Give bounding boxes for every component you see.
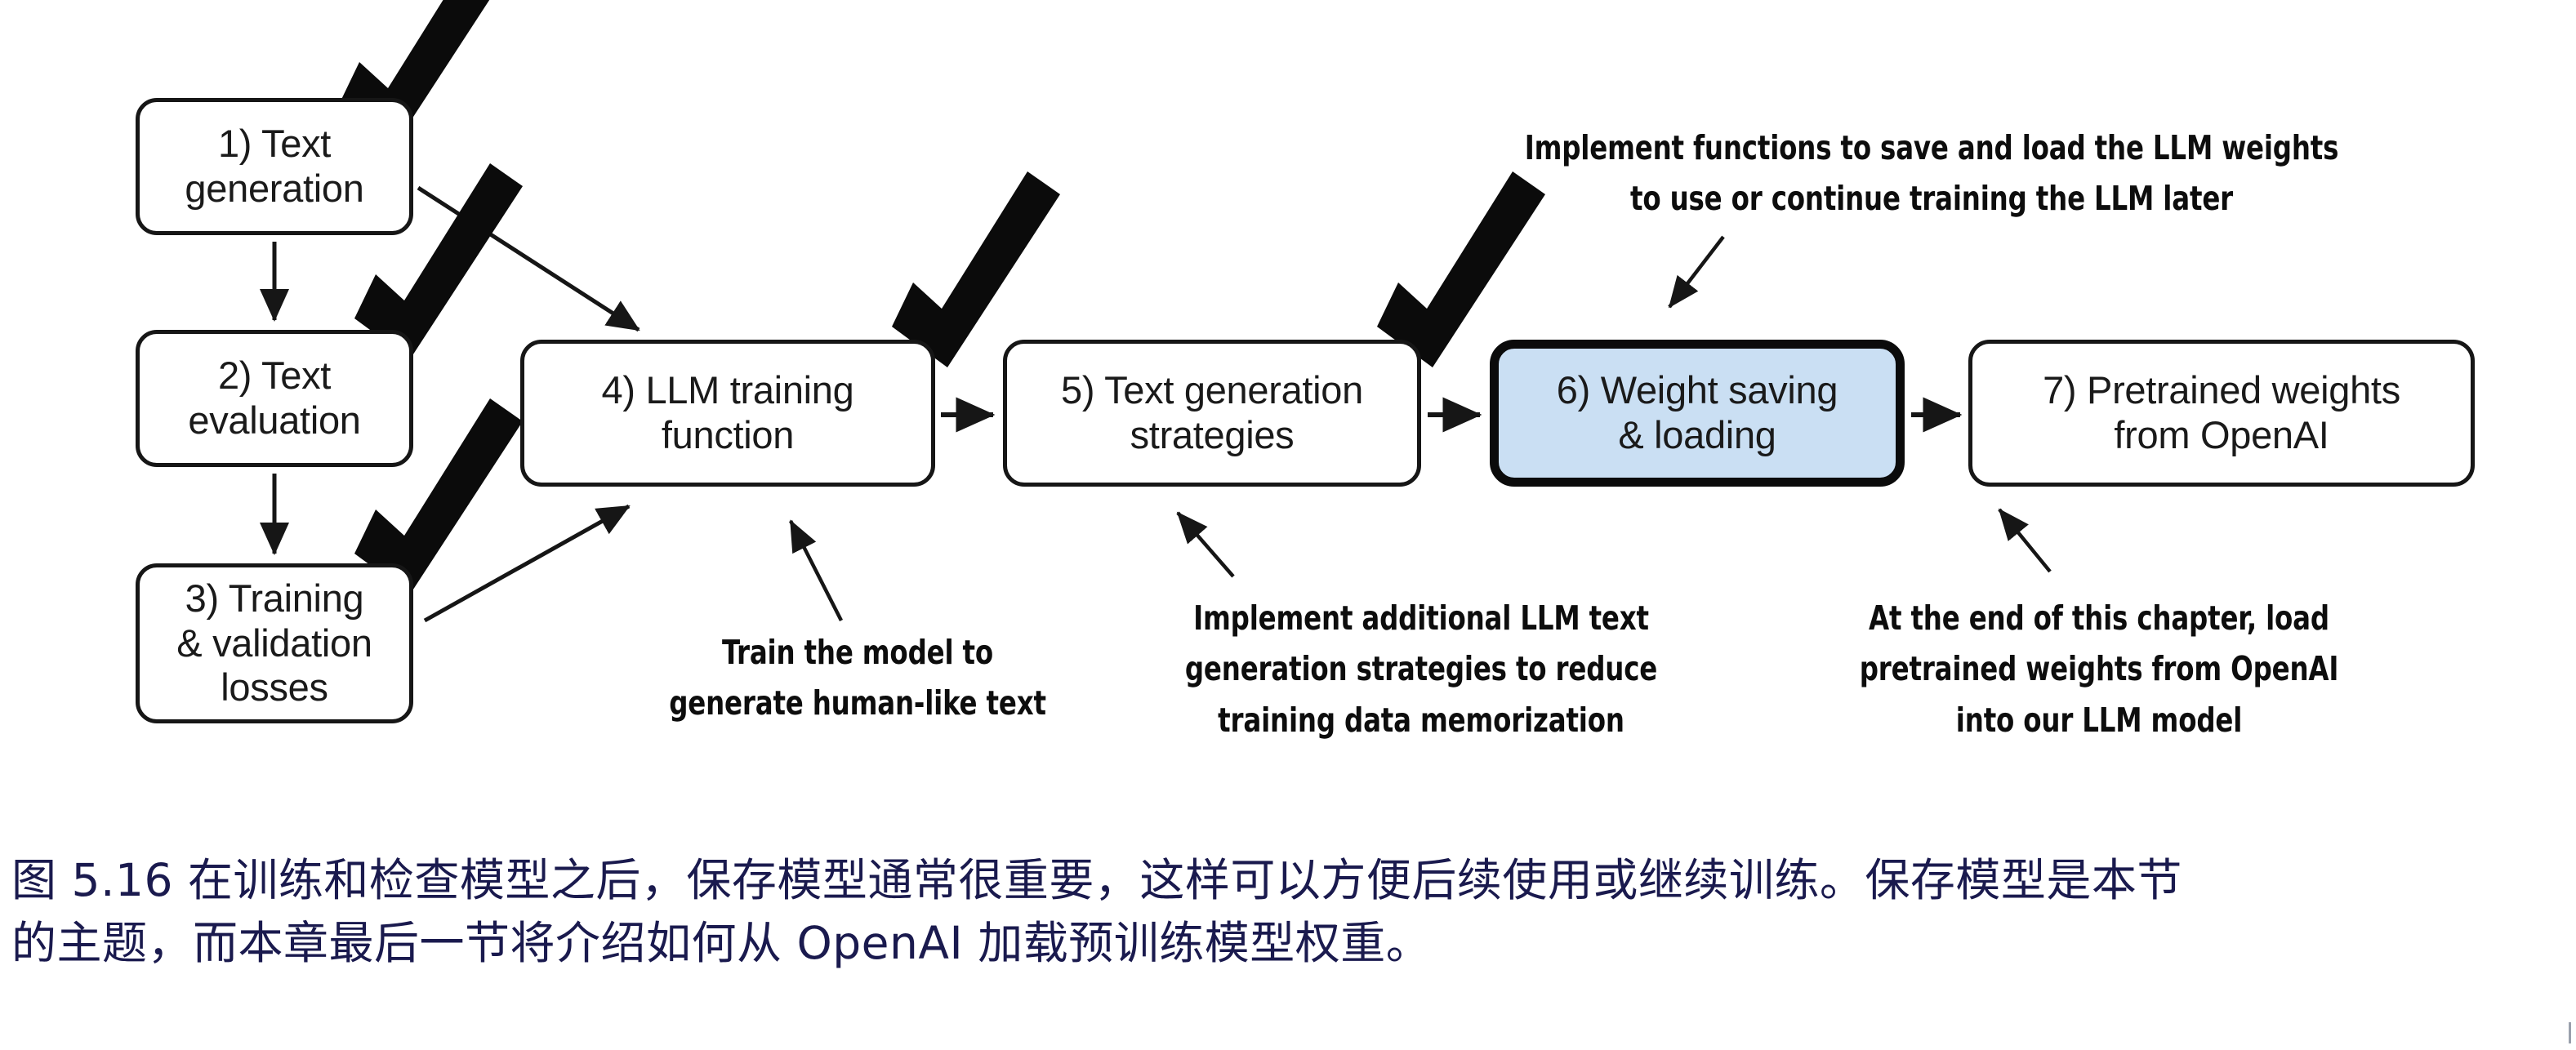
node-pretrained-weights-label: 7) Pretrained weightsfrom OpenAI bbox=[1972, 368, 2471, 457]
node-weight-saving-loading[interactable]: 6) Weight saving& loading bbox=[1490, 340, 1905, 487]
leader-generation-strategies bbox=[1178, 513, 1233, 576]
leader-save-load bbox=[1669, 237, 1723, 307]
node-text-gen-strategies[interactable]: 5) Text generationstrategies bbox=[1003, 340, 1421, 487]
figure-caption-line-1: 图 5.16 在训练和检查模型之后，保存模型通常很重要，这样可以方便后续使用或继… bbox=[11, 849, 2560, 912]
flowchart-figure: 1) Textgeneration 2) Textevaluation 3) T… bbox=[0, 0, 2576, 825]
node-training-losses-label: 3) Training& validationlosses bbox=[140, 576, 409, 710]
leader-pretrained bbox=[1999, 509, 2050, 572]
leader-train-model bbox=[791, 521, 841, 621]
annotation-generation-strategies: Implement additional LLM text generation… bbox=[1134, 593, 1709, 745]
node-pretrained-weights[interactable]: 7) Pretrained weightsfrom OpenAI bbox=[1968, 340, 2475, 487]
annotation-train-model: Train the model to generate human-like t… bbox=[606, 627, 1109, 729]
node-text-gen-strategies-label: 5) Text generationstrategies bbox=[1007, 368, 1417, 457]
node-text-generation[interactable]: 1) Textgeneration bbox=[136, 98, 413, 235]
node-llm-training-function[interactable]: 4) LLM trainingfunction bbox=[520, 340, 935, 487]
node-text-evaluation-label: 2) Textevaluation bbox=[140, 354, 409, 443]
page-edge-mark bbox=[2569, 1022, 2571, 1043]
figure-caption-line-2: 的主题，而本章最后一节将介绍如何从 OpenAI 加载预训练模型权重。 bbox=[11, 912, 2560, 975]
annotation-pretrained: At the end of this chapter, load pretrai… bbox=[1819, 593, 2379, 745]
figure-caption: 图 5.16 在训练和检查模型之后，保存模型通常很重要，这样可以方便后续使用或继… bbox=[11, 849, 2560, 975]
node-weight-saving-loading-label: 6) Weight saving& loading bbox=[1499, 368, 1896, 457]
node-text-generation-label: 1) Textgeneration bbox=[140, 122, 409, 211]
checkmark-icon-4 bbox=[892, 171, 1060, 367]
annotation-save-load: Implement functions to save and load the… bbox=[1482, 122, 2381, 225]
node-llm-training-function-label: 4) LLM trainingfunction bbox=[524, 368, 931, 457]
node-text-evaluation[interactable]: 2) Textevaluation bbox=[136, 330, 413, 467]
node-training-losses[interactable]: 3) Training& validationlosses bbox=[136, 563, 413, 723]
